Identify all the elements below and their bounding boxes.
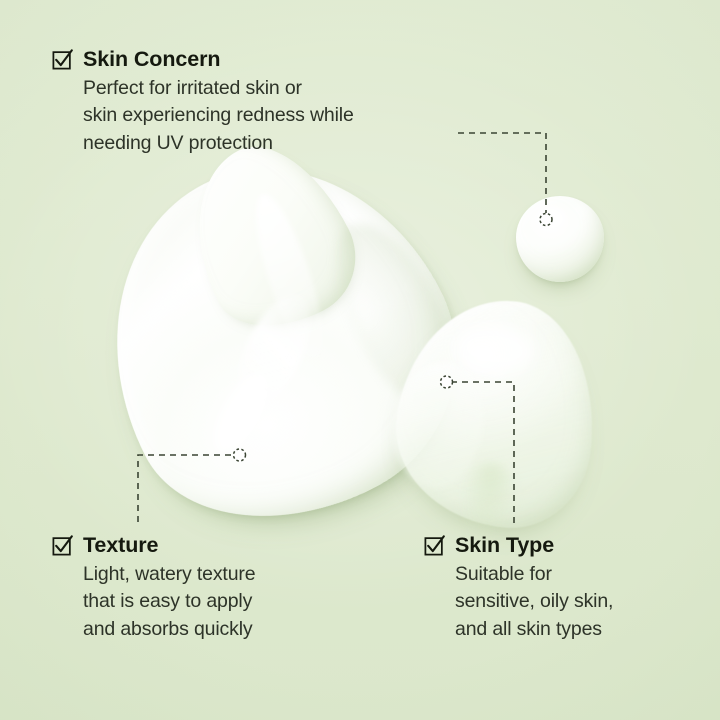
callout-skin-concern-line-1: Perfect for irritated skin or (83, 75, 354, 103)
leader-endpoint-skin-concern (540, 214, 552, 226)
callout-texture-title: Texture (83, 534, 158, 558)
leader-endpoint-skin-type (441, 376, 453, 388)
leader-line-skin-concern (458, 133, 546, 213)
callout-skin-type-line-2: sensitive, oily skin, (455, 588, 613, 616)
cream-blob-right-lobe (386, 357, 489, 492)
callout-texture-head: Texture (52, 534, 255, 558)
leader-endpoint-texture (234, 449, 246, 461)
callout-texture: Texture Light, watery texture that is ea… (52, 534, 255, 644)
callout-skin-type-line-3: and all skin types (455, 616, 613, 644)
infographic-canvas: Skin Concern Perfect for irritated skin … (0, 0, 720, 720)
callout-texture-body: Light, watery texture that is easy to ap… (83, 561, 255, 644)
callout-texture-line-2: that is easy to apply (83, 588, 255, 616)
leader-line-skin-type (453, 382, 514, 523)
checkbox-checked-icon[interactable] (424, 535, 445, 556)
callout-skin-type-line-1: Suitable for (455, 561, 613, 589)
cream-blob-large-shading (312, 206, 482, 426)
cream-blob-large (47, 110, 506, 574)
cream-blob-right-notch (455, 460, 522, 543)
cream-blob-large-highlight-b (223, 284, 325, 418)
callout-skin-concern-head: Skin Concern (52, 48, 354, 72)
cream-blob-large-body (47, 110, 506, 574)
callout-texture-line-3: and absorbs quickly (83, 616, 255, 644)
callout-skin-concern-line-2: skin experiencing redness while (83, 102, 354, 130)
checkbox-checked-icon[interactable] (52, 535, 73, 556)
cream-droplet-small (516, 196, 604, 282)
cream-blob-right-highlight (453, 323, 536, 376)
callout-skin-concern-line-3: needing UV protection (83, 130, 354, 158)
callout-skin-type: Skin Type Suitable for sensitive, oily s… (424, 534, 613, 644)
callout-skin-concern: Skin Concern Perfect for irritated skin … (52, 48, 354, 158)
cream-blob-right-body (387, 290, 606, 535)
callout-skin-type-head: Skin Type (424, 534, 613, 558)
callout-skin-concern-title: Skin Concern (83, 48, 220, 72)
callout-texture-line-1: Light, watery texture (83, 561, 255, 589)
callout-skin-concern-body: Perfect for irritated skin or skin exper… (83, 75, 354, 158)
cream-droplet-small-highlight (535, 208, 565, 229)
callout-skin-type-body: Suitable for sensitive, oily skin, and a… (455, 561, 613, 644)
checkbox-checked-icon[interactable] (52, 49, 73, 70)
cream-blob-right (387, 290, 606, 535)
cream-blob-large-highlight-c (203, 365, 279, 460)
cream-blob-large-highlight-a (243, 188, 335, 366)
callout-skin-type-title: Skin Type (455, 534, 554, 558)
leader-line-texture (138, 455, 233, 522)
